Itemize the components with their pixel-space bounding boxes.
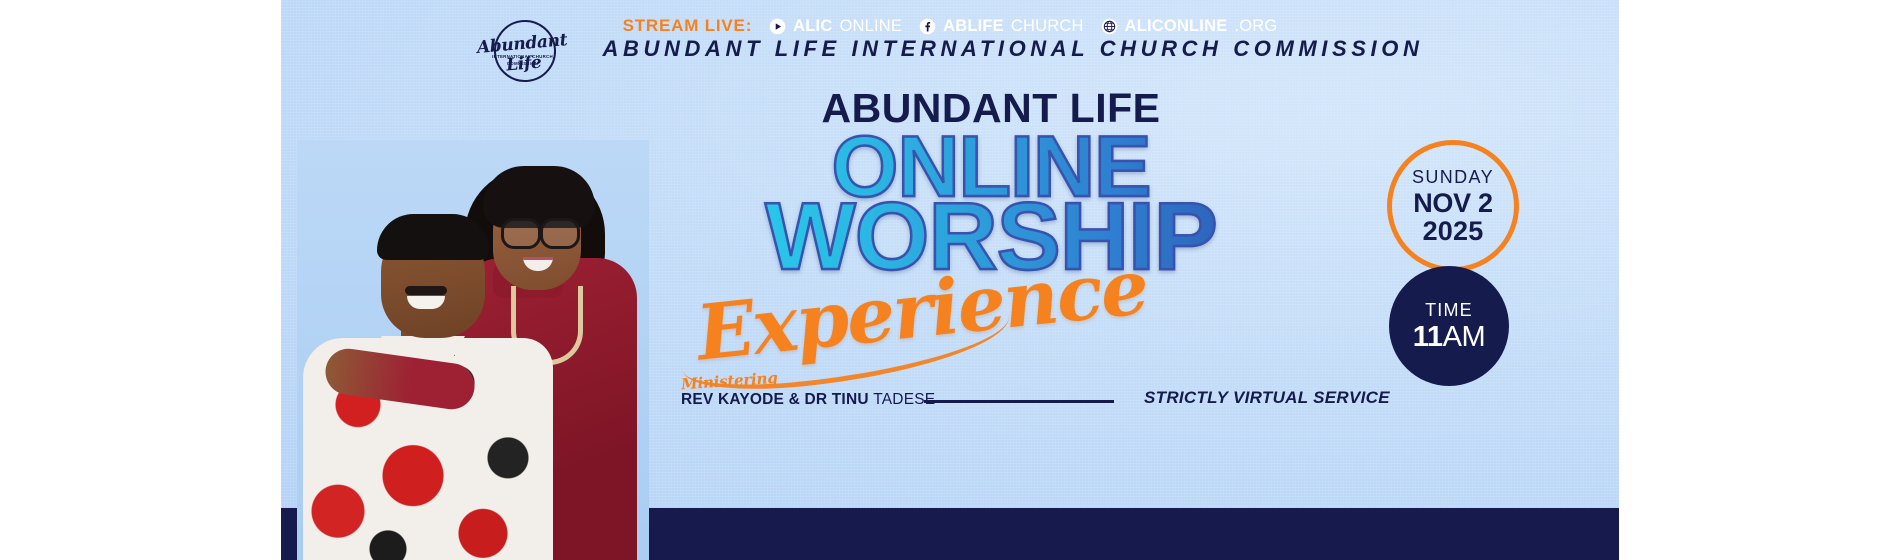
man-hair: [377, 214, 489, 260]
time-label: TIME: [1425, 301, 1473, 319]
date-year: 2025: [1423, 218, 1484, 245]
divider-rule: [924, 400, 1114, 403]
masthead-title: ABUNDANT LIFE INTERNATIONAL CHURCH COMMI…: [603, 36, 1424, 62]
masthead: Abundant Life INTERNATIONAL CHURCH COMMI…: [281, 18, 1619, 80]
church-logo-icon: Abundant Life INTERNATIONAL CHURCH COMMI…: [477, 18, 569, 80]
screenshot-canvas: Abundant Life INTERNATIONAL CHURCH COMMI…: [0, 0, 1900, 560]
time-badge: TIME 11AM: [1389, 266, 1509, 386]
date-badge: SUNDAY NOV 2 2025: [1387, 140, 1519, 272]
woman-hair-front: [483, 166, 595, 228]
headline-block: ABUNDANT LIFE ONLINE WORSHIP: [611, 88, 1371, 278]
time-value: 11AM: [1413, 323, 1486, 352]
woman-glasses-left: [501, 218, 541, 249]
time-value-hour: 11: [1413, 321, 1443, 353]
flyer-artwork: Abundant Life INTERNATIONAL CHURCH COMMI…: [281, 0, 1619, 560]
logo-subtext: INTERNATIONAL CHURCH COMMISSION: [477, 54, 569, 67]
pastors-photo: [297, 140, 649, 560]
minister-names: REV KAYODE & DR TINU TADESE: [681, 391, 935, 409]
time-value-meridiem: AM: [1443, 321, 1486, 353]
date-day-of-week: SUNDAY: [1412, 168, 1494, 186]
date-month-day: NOV 2: [1413, 190, 1493, 217]
woman-glasses-right: [540, 218, 580, 249]
minister-names-bold: REV KAYODE & DR TINU: [681, 391, 869, 408]
man-moustache: [405, 286, 447, 295]
service-note: STRICTLY VIRTUAL SERVICE: [1144, 388, 1390, 408]
ministering-row: Ministering REV KAYODE & DR TINU TADESE …: [681, 374, 1571, 414]
